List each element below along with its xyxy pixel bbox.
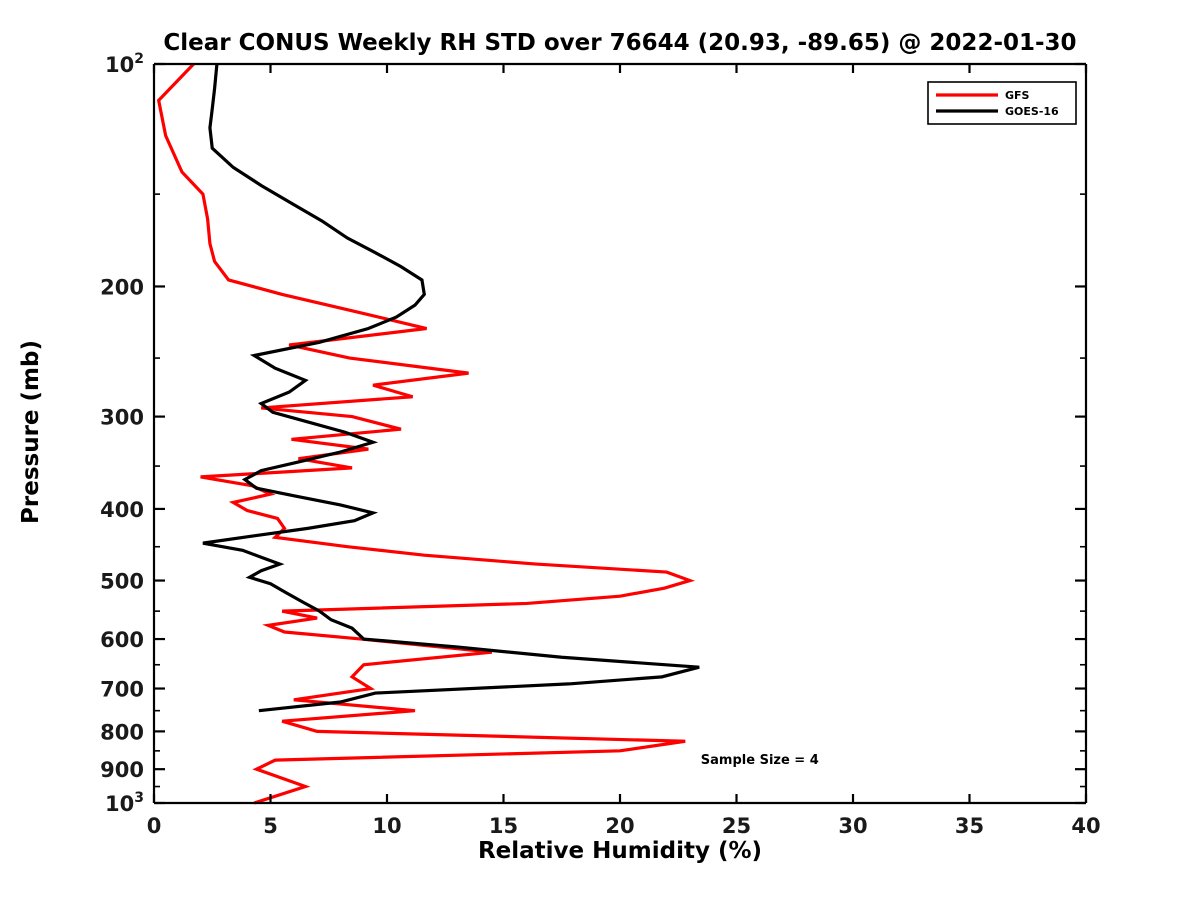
x-tick-label: 35: [955, 814, 984, 838]
x-tick-label: 40: [1071, 814, 1100, 838]
y-tick-label: 900: [100, 758, 144, 782]
y-tick-label: 800: [100, 720, 144, 744]
x-tick-label: 25: [722, 814, 751, 838]
legend-label-gfs: GFS: [1005, 89, 1030, 102]
y-tick-label: 700: [100, 678, 144, 702]
x-tick-label: 15: [489, 814, 518, 838]
y-tick-label: 400: [100, 498, 144, 522]
legend-label-goes-16: GOES-16: [1005, 105, 1059, 118]
y-tick-label: 200: [100, 275, 144, 299]
figure-container: Clear CONUS Weekly RH STD over 76644 (20…: [0, 0, 1200, 900]
y-tick-label: 500: [100, 570, 144, 594]
chart-title: Clear CONUS Weekly RH STD over 76644 (20…: [163, 30, 1076, 56]
x-tick-label: 20: [605, 814, 634, 838]
annotation-layer: Sample Size = 4: [701, 753, 819, 768]
y-tick-label: 600: [100, 628, 144, 652]
legend[interactable]: GFSGOES-16: [928, 82, 1076, 124]
x-tick-label: 5: [263, 814, 278, 838]
x-tick-label: 10: [372, 814, 401, 838]
y-tick-label: 300: [100, 406, 144, 430]
y-axis-label: Pressure (mb): [18, 340, 44, 524]
figure-background: [0, 0, 1200, 900]
sample-size-annotation: Sample Size = 4: [701, 753, 819, 768]
x-axis-label: Relative Humidity (%): [478, 838, 762, 864]
relative-humidity-profile-chart: Clear CONUS Weekly RH STD over 76644 (20…: [0, 0, 1200, 900]
x-tick-label: 0: [147, 814, 162, 838]
x-tick-label: 30: [838, 814, 867, 838]
